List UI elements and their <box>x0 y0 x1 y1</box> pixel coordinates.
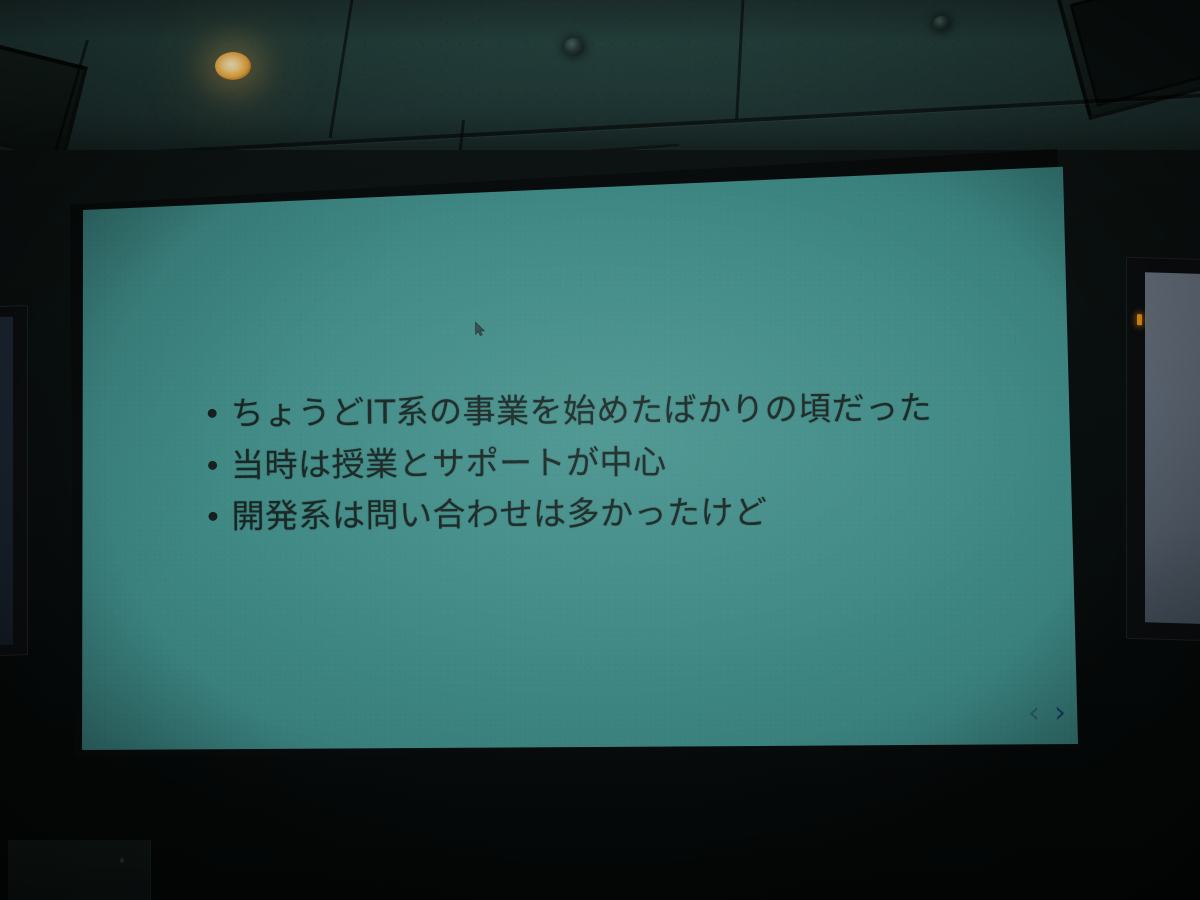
panel-screw <box>120 858 124 863</box>
slide-bullet-text: 開発系は問い合わせは多かったけど <box>231 490 767 540</box>
chevron-left-icon[interactable]: ‹ <box>1028 698 1040 728</box>
bullet-dot-icon <box>208 460 217 469</box>
projected-slide-photo: ちょうどIT系の事業を始めたばかりの頃だった 当時は授業とサポートが中心 開発系… <box>0 0 1200 900</box>
monitor-left-screen <box>0 317 13 646</box>
monitor-right-screen <box>1145 272 1200 624</box>
bullet-dot-icon <box>208 512 217 521</box>
slide-bullet-text: 当時は授業とサポートが中心 <box>231 439 667 488</box>
projection-screen-surface[interactable]: ちょうどIT系の事業を始めたばかりの頃だった 当時は授業とサポートが中心 開発系… <box>72 156 1078 750</box>
slide-bullet-list: ちょうどIT系の事業を始めたばかりの頃だった 当時は授業とサポートが中心 開発系… <box>208 384 1039 545</box>
slide: ちょうどIT系の事業を始めたばかりの頃だった 当時は授業とサポートが中心 開発系… <box>72 156 1078 750</box>
wall-monitor-right <box>1126 257 1200 641</box>
slide-bullet-text: ちょうどIT系の事業を始めたばかりの頃だった <box>231 385 933 436</box>
chevron-right-icon[interactable]: › <box>1054 698 1066 728</box>
slide-bullet-item: 開発系は問い合わせは多かったけど <box>208 487 1038 539</box>
mouse-pointer-icon <box>475 322 486 337</box>
slide-bullet-item: 当時は授業とサポートが中心 <box>208 436 1038 488</box>
projection-screen: ちょうどIT系の事業を始めたばかりの頃だった 当時は授業とサポートが中心 開発系… <box>62 146 1088 758</box>
ceiling-downlight-icon <box>215 52 251 80</box>
slide-bullet-item: ちょうどIT系の事業を始めたばかりの頃だった <box>208 384 1038 436</box>
ceiling-dome-fixture-icon <box>933 16 950 31</box>
slide-navigation: ‹ › <box>1028 698 1066 728</box>
ceiling-dome-fixture-icon <box>564 38 584 56</box>
bullet-dot-icon <box>208 409 217 418</box>
ceiling-vent-inner <box>1070 0 1200 107</box>
wall-monitor-left <box>0 305 28 657</box>
wall-panel <box>8 840 151 900</box>
power-led-icon <box>1137 314 1142 325</box>
